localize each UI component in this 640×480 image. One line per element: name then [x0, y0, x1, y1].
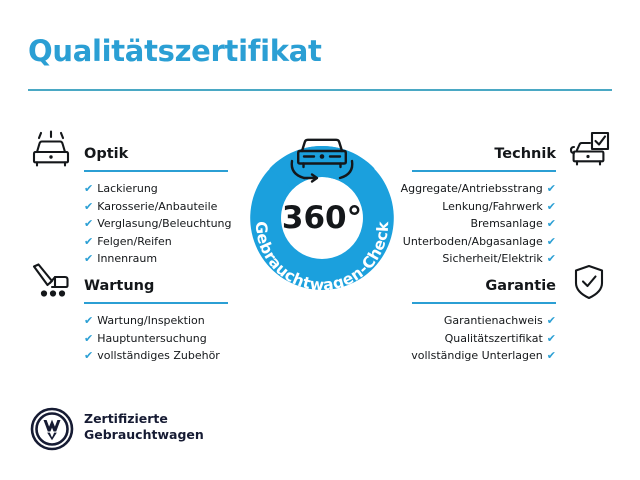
footer-branding: ZertifizierteGebrauchtwagen	[30, 405, 290, 457]
volkswagen-logo	[30, 407, 74, 451]
shield-check-icon	[566, 262, 612, 302]
section-header-wartung: Wartung	[28, 262, 228, 302]
list-item-label: Karosserie/Anbauteile	[97, 200, 217, 213]
list-item: ✔Hauptuntersuchung	[84, 330, 220, 348]
section-header-technik: Technik	[412, 130, 612, 170]
list-item: ✔Felgen/Reifen	[84, 233, 232, 251]
car-wrench-icon	[28, 262, 74, 302]
section-divider-optik	[84, 170, 228, 172]
list-item: Aggregate/Antriebsstrang✔	[401, 180, 556, 198]
list-item: Bremsanlage✔	[401, 215, 556, 233]
list-item: Garantienachweis✔	[411, 312, 556, 330]
check-icon: ✔	[84, 182, 93, 195]
list-item-label: Verglasung/Beleuchtung	[97, 217, 231, 230]
footer-line-2: Gebrauchtwagen	[84, 427, 204, 442]
section-title-optik: Optik	[84, 146, 128, 162]
list-item-label: Hauptuntersuchung	[97, 332, 206, 345]
check-icon: ✔	[84, 200, 93, 213]
section-technik: Technik Aggregate/Antriebsstrang✔ Lenkun…	[412, 130, 612, 170]
list-item-label: Lackierung	[97, 182, 158, 195]
check-icon: ✔	[84, 235, 93, 248]
list-item: ✔vollständiges Zubehör	[84, 347, 220, 365]
list-item-label: Unterboden/Abgasanlage	[403, 235, 543, 248]
360-check-badge: Gebrauchtwagen-Check 360°	[222, 118, 422, 314]
list-item: Lenkung/Fahrwerk✔	[401, 198, 556, 216]
list-item: Qualitätszertifikat✔	[411, 330, 556, 348]
check-icon: ✔	[547, 314, 556, 327]
section-header-garantie: Garantie	[412, 262, 612, 302]
list-item: vollständige Unterlagen✔	[411, 347, 556, 365]
footer-line-1: Zertifizierte	[84, 411, 168, 426]
checklist-optik: ✔Lackierung ✔Karosserie/Anbauteile ✔Verg…	[84, 180, 232, 268]
list-item-label: Qualitätszertifikat	[445, 332, 543, 345]
check-icon: ✔	[547, 349, 556, 362]
list-item-label: vollständiges Zubehör	[97, 349, 220, 362]
list-item-label: Wartung/Inspektion	[97, 314, 205, 327]
checklist-garantie: Garantienachweis✔ Qualitätszertifikat✔ v…	[411, 312, 556, 365]
list-item-label: vollständige Unterlagen	[411, 349, 543, 362]
section-divider-technik	[412, 170, 556, 172]
check-icon: ✔	[547, 217, 556, 230]
header-divider	[28, 89, 612, 91]
section-wartung: Wartung ✔Wartung/Inspektion ✔Hauptunters…	[28, 262, 228, 302]
checklist-technik: Aggregate/Antriebsstrang✔ Lenkung/Fahrwe…	[401, 180, 556, 268]
footer-text: ZertifizierteGebrauchtwagen	[84, 411, 204, 443]
list-item-label: Felgen/Reifen	[97, 235, 172, 248]
check-icon: ✔	[84, 314, 93, 327]
section-optik: Optik ✔Lackierung ✔Karosserie/Anbauteile…	[28, 130, 228, 170]
check-icon: ✔	[84, 332, 93, 345]
check-icon: ✔	[547, 332, 556, 345]
section-header-optik: Optik	[28, 130, 228, 170]
list-item: ✔Verglasung/Beleuchtung	[84, 215, 232, 233]
section-title-technik: Technik	[494, 146, 556, 162]
certificate-page: Qualitätszertifikat Opt	[0, 0, 640, 480]
list-item-label: Garantienachweis	[444, 314, 543, 327]
section-divider-wartung	[84, 302, 228, 304]
check-icon: ✔	[547, 182, 556, 195]
check-icon: ✔	[84, 349, 93, 362]
list-item: ✔Wartung/Inspektion	[84, 312, 220, 330]
list-item: ✔Karosserie/Anbauteile	[84, 198, 232, 216]
list-item-label: Bremsanlage	[470, 217, 542, 230]
checklist-wartung: ✔Wartung/Inspektion ✔Hauptuntersuchung ✔…	[84, 312, 220, 365]
page-title: Qualitätszertifikat	[28, 34, 322, 68]
list-item-label: Lenkung/Fahrwerk	[442, 200, 543, 213]
check-icon: ✔	[84, 217, 93, 230]
check-icon: ✔	[547, 235, 556, 248]
car-shine-icon	[28, 130, 74, 170]
check-icon: ✔	[547, 200, 556, 213]
list-item: Unterboden/Abgasanlage✔	[401, 233, 556, 251]
car-checkbox-icon	[566, 130, 612, 170]
badge-center-label: 360°	[282, 200, 362, 236]
list-item: ✔Lackierung	[84, 180, 232, 198]
section-title-wartung: Wartung	[84, 278, 154, 294]
section-garantie: Garantie Garantienachweis✔ Qualitätszert…	[412, 262, 612, 302]
section-divider-garantie	[412, 302, 556, 304]
section-title-garantie: Garantie	[485, 278, 556, 294]
